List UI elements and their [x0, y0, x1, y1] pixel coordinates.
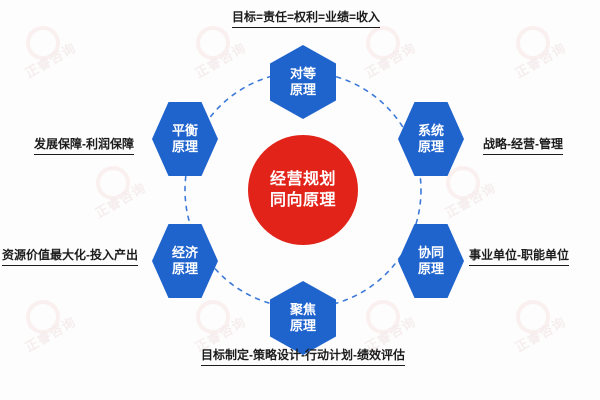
watermark-text: 正睿咨询 — [191, 37, 249, 81]
hex-node-lower-left[interactable]: 经济 原理 — [152, 224, 218, 298]
hex-node-upper-right[interactable]: 系统 原理 — [398, 102, 464, 176]
hex-label-line1: 经济 — [172, 245, 198, 261]
watermark-text: 正睿咨询 — [21, 311, 79, 355]
watermark-ring — [96, 166, 130, 200]
hex-node-top[interactable]: 对等 原理 — [270, 45, 336, 119]
center-circle[interactable]: 经营规划 同向原理 — [248, 135, 358, 245]
watermark-ring — [26, 300, 60, 334]
hex-label-line1: 对等 — [290, 66, 316, 82]
center-title-line2: 同向原理 — [270, 190, 336, 211]
hex-label-line2: 原理 — [418, 139, 444, 155]
watermark-ring — [196, 26, 230, 60]
watermark-ring — [516, 26, 550, 60]
hex-label-line1: 系统 — [418, 123, 444, 139]
annotation-bottom: 目标制定-策略设计-行动计划-绩效评估 — [201, 348, 405, 366]
annotation-upper-right: 战略-经营-管理 — [483, 137, 563, 155]
hex-label-line1: 协同 — [418, 245, 444, 261]
watermark-ring — [26, 26, 60, 60]
hex-label-line1: 平衡 — [172, 123, 198, 139]
watermark-text: 正睿咨询 — [361, 37, 419, 81]
hex-node-bottom[interactable]: 聚焦 原理 — [270, 281, 336, 355]
watermark-text: 正睿咨询 — [511, 311, 569, 355]
diagram-canvas: 正睿咨询 正睿咨询 正睿咨询 正睿咨询 正睿咨询 正睿咨询 正睿咨询 正睿咨询 … — [0, 0, 600, 400]
hex-label-line2: 原理 — [172, 139, 198, 155]
hex-node-upper-left[interactable]: 平衡 原理 — [152, 102, 218, 176]
hex-node-lower-right[interactable]: 协同 原理 — [398, 224, 464, 298]
watermark-ring — [366, 26, 400, 60]
watermark-text: 正睿咨询 — [21, 37, 79, 81]
hex-label-line2: 原理 — [290, 318, 316, 334]
watermark-text: 正睿咨询 — [511, 37, 569, 81]
hex-label-line2: 原理 — [172, 261, 198, 277]
watermark-text: 正睿咨询 — [91, 177, 149, 221]
hex-label-line1: 聚焦 — [290, 302, 316, 318]
annotation-top: 目标=责任=权利=业绩=收入 — [232, 10, 380, 28]
annotation-lower-right: 事业单位-职能单位 — [469, 248, 569, 266]
watermark-ring — [366, 300, 400, 334]
watermark-text: 正睿咨询 — [441, 177, 499, 221]
watermark-ring — [446, 166, 480, 200]
annotation-lower-left: 资源价值最大化-投入产出 — [2, 248, 138, 266]
watermark-ring — [196, 300, 230, 334]
watermark-ring — [516, 300, 550, 334]
hex-label-line2: 原理 — [418, 261, 444, 277]
hex-label-line2: 原理 — [290, 82, 316, 98]
center-title-line1: 经营规划 — [270, 169, 336, 190]
annotation-upper-left: 发展保障-利润保障 — [34, 137, 134, 155]
